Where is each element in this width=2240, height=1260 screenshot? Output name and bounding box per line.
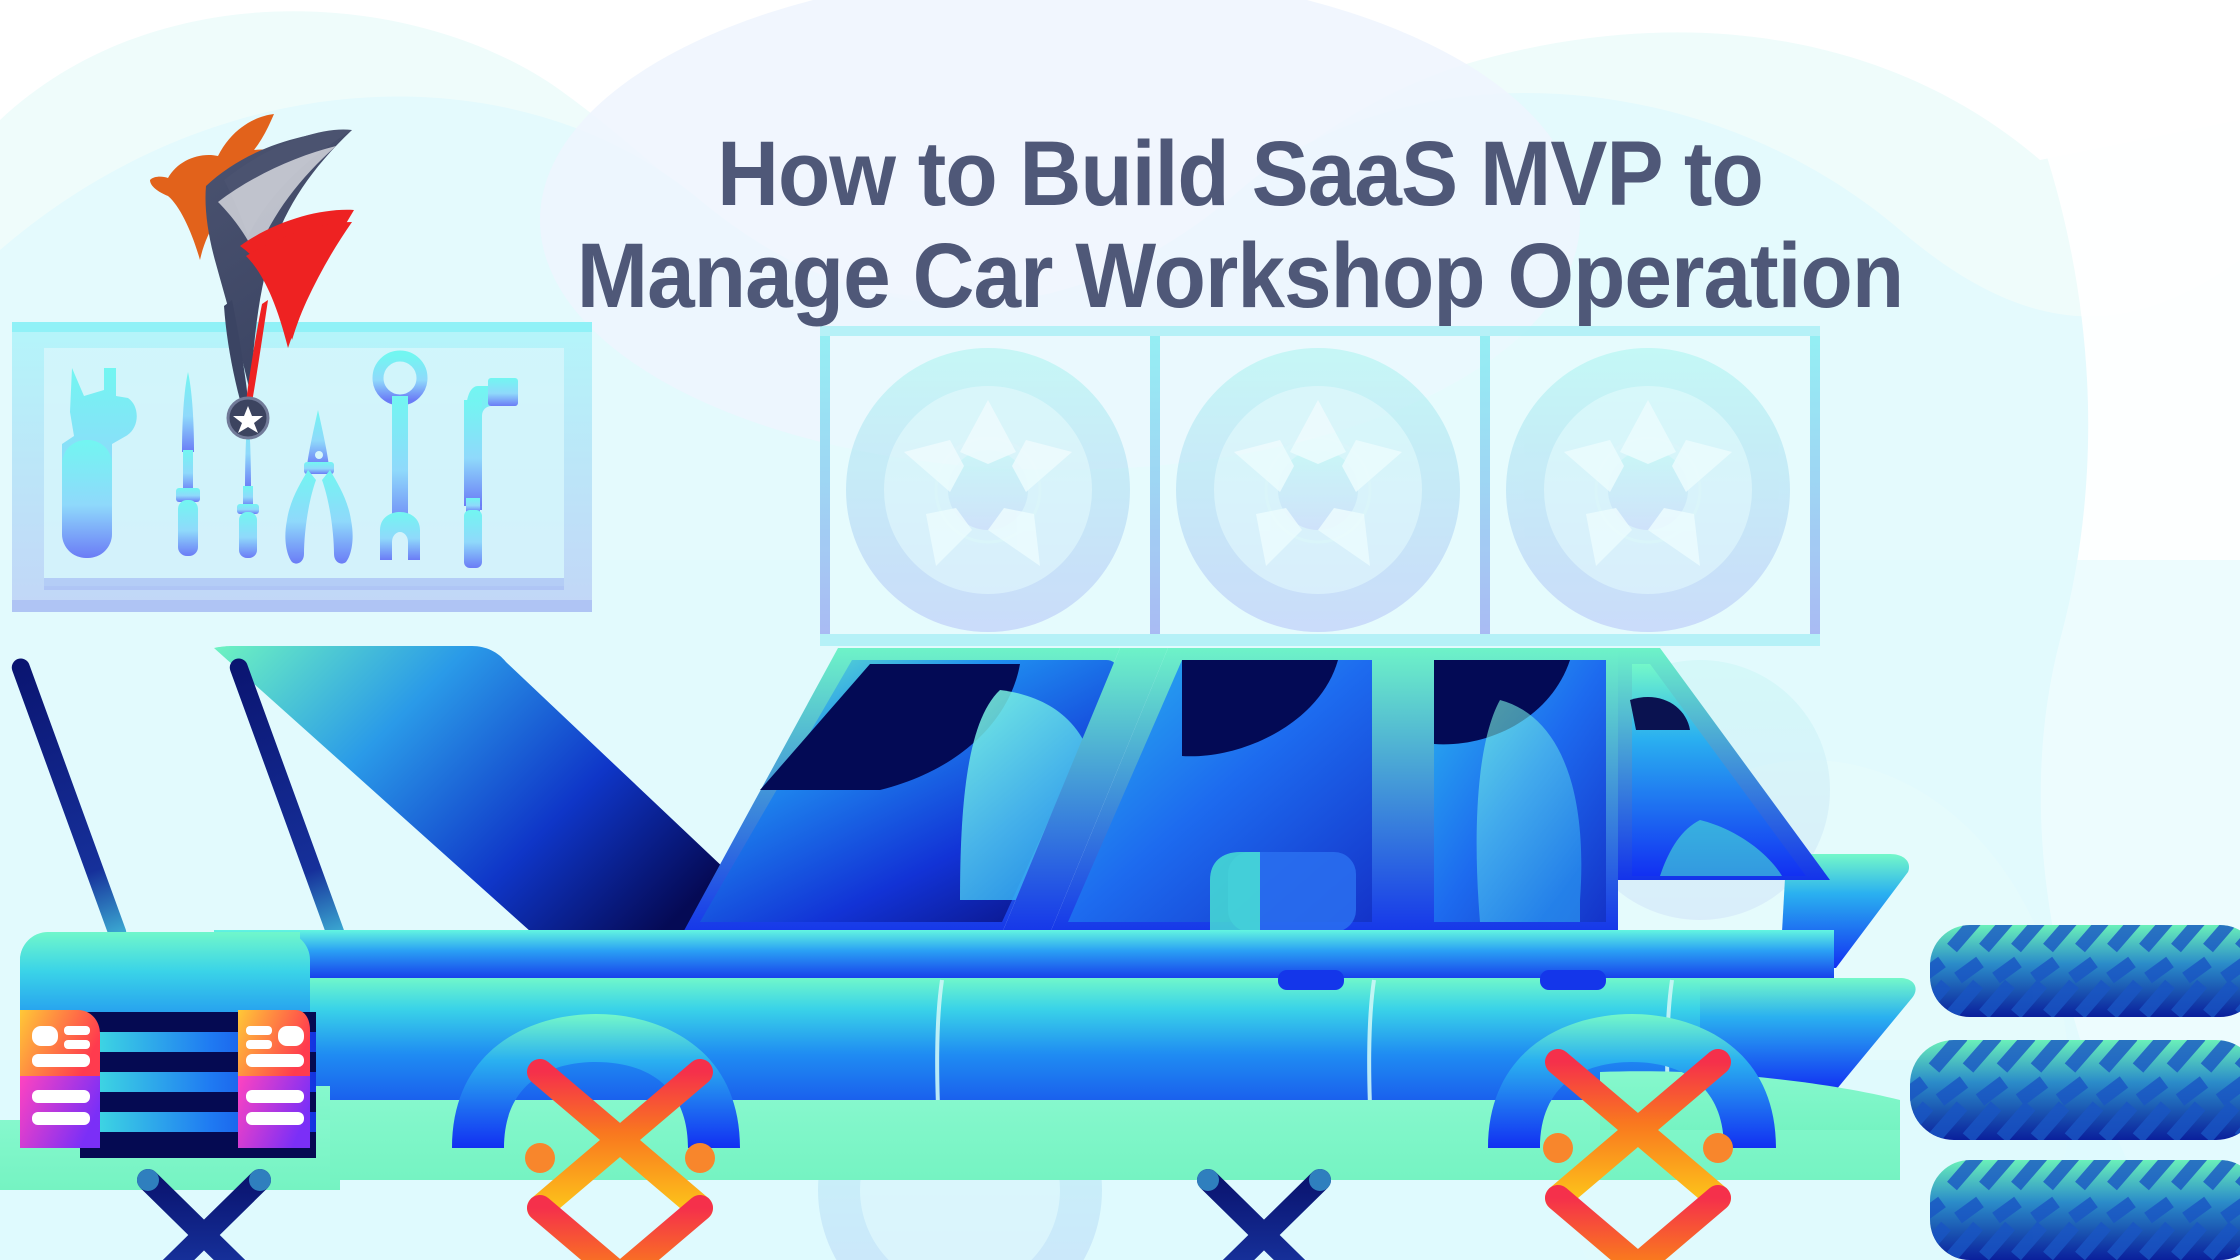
illustration-svg	[0, 0, 2240, 1260]
headlight-right[interactable]	[238, 1010, 310, 1148]
headlight-left[interactable]	[20, 1010, 100, 1148]
car-front-end[interactable]	[20, 1010, 316, 1158]
tool-pegboard[interactable]	[12, 322, 592, 612]
stacked-tires[interactable]	[1900, 918, 2240, 1260]
hero-illustration-canvas: How to Build SaaS MVP to Manage Car Work…	[0, 0, 2240, 1260]
rack-tire-2	[1176, 348, 1460, 632]
stacked-tire-2	[1900, 1036, 2240, 1140]
door-handle-rear	[1540, 970, 1606, 990]
stacked-tire-3	[1920, 1156, 2240, 1260]
rack-tire-1	[846, 348, 1130, 632]
door-handle-front	[1278, 970, 1344, 990]
stacked-tire-1	[1920, 918, 2240, 1017]
rack-tire-3	[1506, 348, 1790, 632]
tire-shelf-rack[interactable]	[820, 326, 1820, 646]
